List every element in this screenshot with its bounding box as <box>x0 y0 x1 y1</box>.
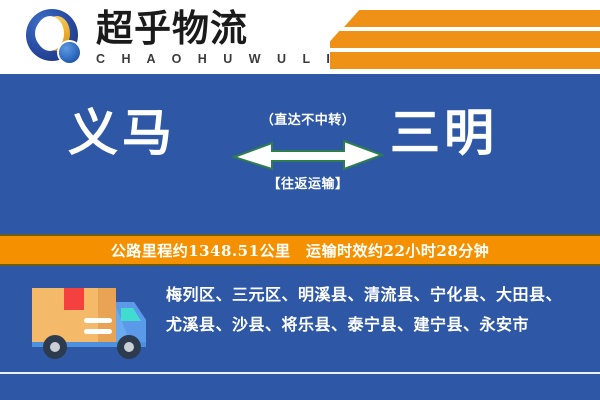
distance-duration-band: 公路里程约1348.51公里 运输时效约22小时28分钟 <box>0 234 600 266</box>
header-stripe-graphic <box>330 0 600 74</box>
brand-block: 超乎物流 C H A O H U W U L I U <box>96 8 362 67</box>
banner-footer <box>0 374 600 400</box>
banner-header: 超乎物流 C H A O H U W U L I U <box>0 0 600 74</box>
distance-duration-text: 公路里程约1348.51公里 运输时效约22小时28分钟 <box>111 240 490 261</box>
origin-city: 义马 <box>68 102 176 164</box>
stripe-3 <box>330 52 600 69</box>
double-arrow-icon <box>232 136 384 172</box>
logo-accent-dot <box>59 42 80 63</box>
route-middle-block: （直达不中转） 【往返运输】 <box>232 112 384 194</box>
company-logo-icon <box>26 9 84 65</box>
stripe-2 <box>330 31 600 48</box>
coverage-panel: 梅列区、三元区、明溪县、清流县、宁化县、大田县、 尤溪县、沙县、将乐县、泰宁县、… <box>0 266 600 372</box>
route-note-top: （直达不中转） <box>232 112 384 130</box>
logistics-route-banner: 超乎物流 C H A O H U W U L I U 义马 （直达不中转） 【往… <box>0 0 600 400</box>
brand-name-chinese: 超乎物流 <box>96 8 362 50</box>
stripe-1 <box>344 10 600 27</box>
delivery-truck-icon <box>26 278 150 360</box>
route-note-bottom: 【往返运输】 <box>232 176 384 194</box>
route-panel: 义马 （直达不中转） 【往返运输】 三明 <box>0 74 600 234</box>
brand-name-pinyin: C H A O H U W U L I U <box>96 51 362 67</box>
coverage-area-list: 梅列区、三元区、明溪县、清流县、宁化县、大田县、 尤溪县、沙县、将乐县、泰宁县、… <box>166 280 586 340</box>
coverage-line-1: 梅列区、三元区、明溪县、清流县、宁化县、大田县、 <box>166 280 586 310</box>
destination-city: 三明 <box>390 102 498 164</box>
coverage-line-2: 尤溪县、沙县、将乐县、泰宁县、建宁县、永安市 <box>166 310 586 340</box>
